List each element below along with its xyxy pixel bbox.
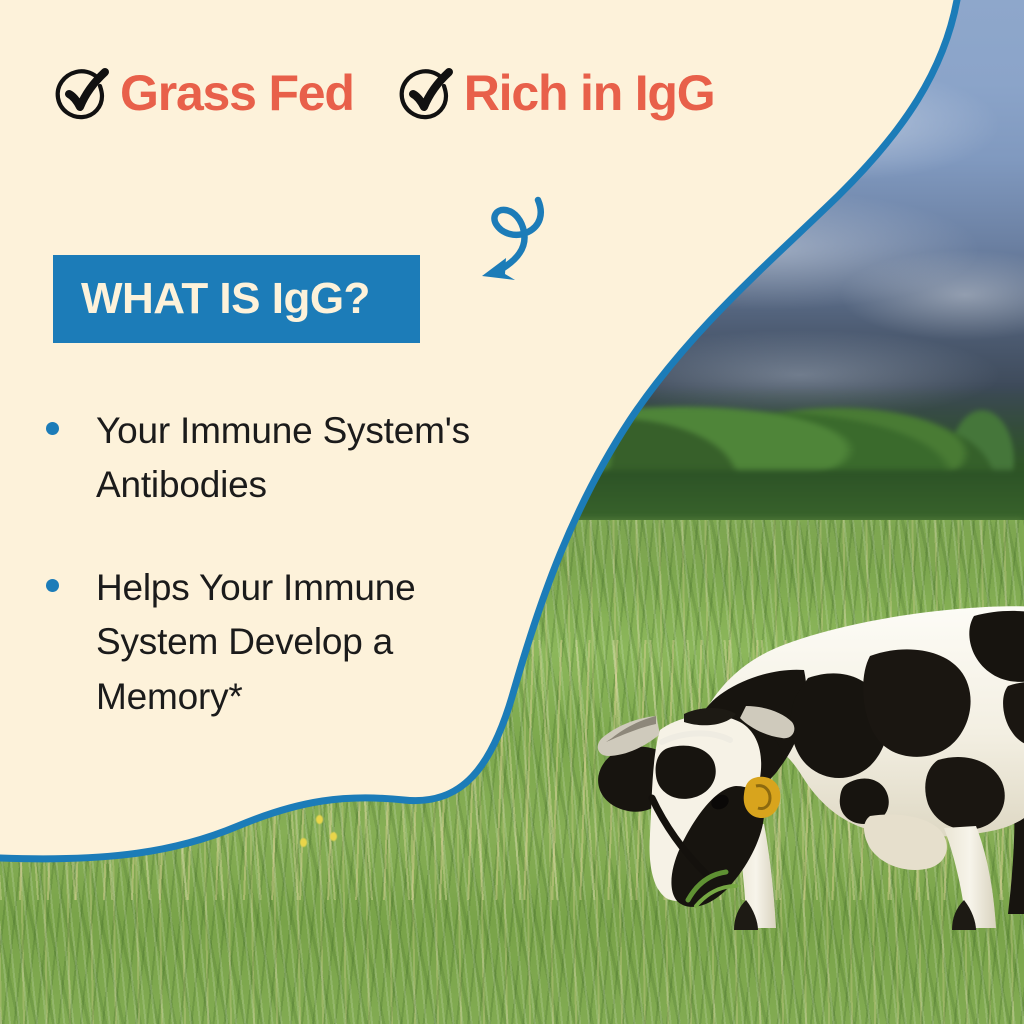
infographic-canvas: Grass Fed Rich in IgG WHAT IS IgG?: [0, 0, 1024, 1024]
check-circle-icon: [394, 64, 456, 126]
claims-row: Grass Fed Rich in IgG: [50, 62, 714, 124]
claim-grass-fed: Grass Fed: [50, 62, 354, 124]
content-layer: Grass Fed Rich in IgG WHAT IS IgG?: [0, 0, 1024, 1024]
bullet-list: Your Immune System's Antibodies Helps Yo…: [46, 404, 516, 772]
check-circle-icon: [50, 64, 112, 126]
list-item: Helps Your Immune System Develop a Memor…: [46, 561, 516, 724]
curly-arrow-down-left-icon: [462, 192, 562, 288]
section-badge: WHAT IS IgG?: [53, 255, 420, 343]
badge-label: WHAT IS IgG?: [81, 274, 370, 324]
list-item-text: Helps Your Immune System Develop a Memor…: [96, 561, 516, 724]
claim-label: Grass Fed: [120, 64, 354, 122]
list-item: Your Immune System's Antibodies: [46, 404, 516, 513]
bullet-dot-icon: [46, 579, 59, 592]
claim-label: Rich in IgG: [464, 64, 715, 122]
claim-rich-in-igg: Rich in IgG: [394, 62, 715, 124]
bullet-dot-icon: [46, 422, 59, 435]
list-item-text: Your Immune System's Antibodies: [96, 404, 516, 513]
